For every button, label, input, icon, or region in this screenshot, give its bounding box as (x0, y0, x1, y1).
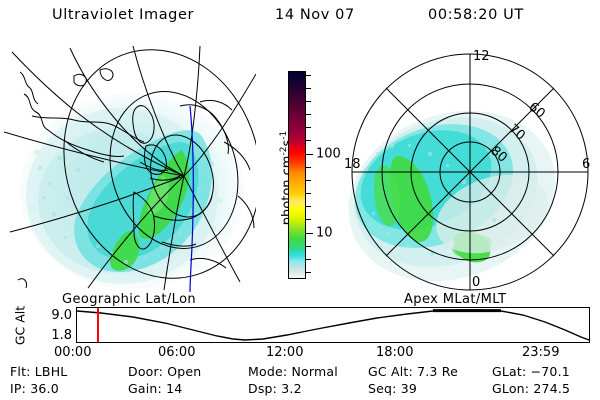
status-gain: Gain: 14 (128, 381, 182, 396)
mlt-label-12: 12 (473, 49, 490, 64)
instrument-title: Ultraviolet Imager (52, 7, 194, 23)
orbit-xtick-1200: 12:00 (266, 345, 303, 360)
colorbar-gradient (289, 72, 305, 278)
orbit-plot-box (76, 307, 590, 343)
orbit-altitude-plot[interactable]: GC Alt 9.0 1.8 00:00 06:00 12:00 18:00 2… (0, 300, 600, 358)
status-gc-alt: GC Alt: 7.3 Re (368, 364, 458, 379)
mlt-label-0: 0 (472, 275, 480, 290)
geographic-plot-svg (4, 46, 256, 292)
mlt-label-18: 18 (344, 157, 361, 172)
orbit-curve-svg (77, 308, 589, 342)
status-seq: Seq: 39 (368, 381, 417, 396)
orbit-current-time-marker (97, 308, 99, 342)
apex-plot-svg: 12 18 6 0 60 70 80 (342, 46, 598, 292)
orbit-xtick-1800: 18:00 (376, 345, 413, 360)
status-dsp: Dsp: 3.2 (248, 381, 302, 396)
mlt-label-6: 6 (582, 157, 590, 172)
colorbar-label-100: 100 (316, 148, 341, 161)
observation-date: 14 Nov 07 (275, 7, 355, 23)
orbit-xtick-0000: 00:00 (54, 345, 91, 360)
status-footer: Flt: LBHL Door: Open Mode: Normal GC Alt… (0, 362, 600, 400)
status-door: Door: Open (128, 364, 201, 379)
colorbar-ticks (306, 71, 312, 279)
status-mode: Mode: Normal (248, 364, 338, 379)
status-glat: GLat: −70.1 (492, 364, 570, 379)
ultraviolet-imager-window: Ultraviolet Imager 14 Nov 07 00:58:20 UT (0, 0, 600, 400)
status-ip: IP: 36.0 (10, 381, 59, 396)
mlat-label-60: 60 (525, 100, 547, 122)
apex-image-panel[interactable]: 12 18 6 0 60 70 80 (342, 46, 598, 292)
colorbar-label-10: 10 (316, 227, 333, 240)
orbit-ytick-high: 9.0 (36, 308, 72, 323)
status-filter: Flt: LBHL (10, 364, 67, 379)
header-bar: Ultraviolet Imager 14 Nov 07 00:58:20 UT (0, 4, 600, 30)
colorbar-gradient-box (288, 71, 306, 279)
orbit-ytick-low: 1.8 (36, 328, 72, 343)
orbit-y-axis-label: GC Alt (13, 296, 28, 356)
colorbar: photon cm-2s-1 100 10 (258, 62, 342, 294)
orbit-xtick-0600: 06:00 (158, 345, 195, 360)
status-glon: GLon: 274.5 (492, 381, 570, 396)
orbit-xtick-2359: 23:59 (522, 345, 559, 360)
observation-time: 00:58:20 UT (428, 7, 524, 23)
geographic-image-panel[interactable] (4, 46, 256, 292)
apex-polar-grid (352, 54, 588, 290)
